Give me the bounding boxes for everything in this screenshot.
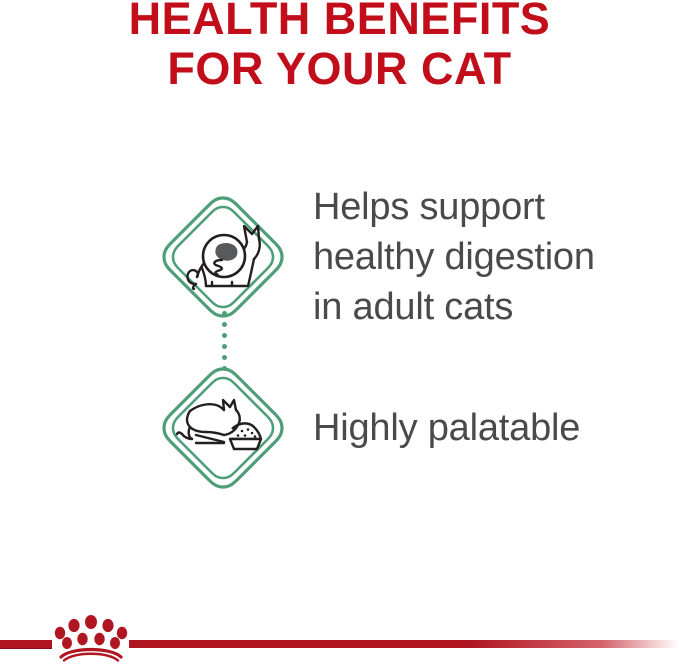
connector-dot [222, 311, 227, 316]
cat-eating-bowl-icon [160, 365, 286, 491]
cat-digestion-icon [160, 194, 286, 320]
connector-dot [222, 322, 227, 327]
title-line-2: FOR YOUR CAT [0, 44, 679, 94]
dotted-connector [218, 311, 230, 367]
benefit-label-palatable: Highly palatable [313, 403, 580, 453]
connector-dot [222, 333, 227, 338]
page-title: HEALTH BENEFITS FOR YOUR CAT [0, 0, 679, 94]
benefit-item-digestion: Helps support healthy digestion in adult… [160, 182, 595, 332]
title-line-1: HEALTH BENEFITS [0, 0, 679, 44]
connector-dot [222, 344, 227, 349]
health-benefits-infographic: HEALTH BENEFITS FOR YOUR CAT [0, 0, 679, 666]
royal-canin-crown-logo [47, 612, 135, 662]
brand-bar-right [129, 640, 679, 648]
benefit-label-digestion: Helps support healthy digestion in adult… [313, 182, 595, 332]
benefit-item-palatable: Highly palatable [160, 365, 580, 491]
connector-dot [222, 355, 227, 360]
brand-bar-left [0, 640, 52, 649]
